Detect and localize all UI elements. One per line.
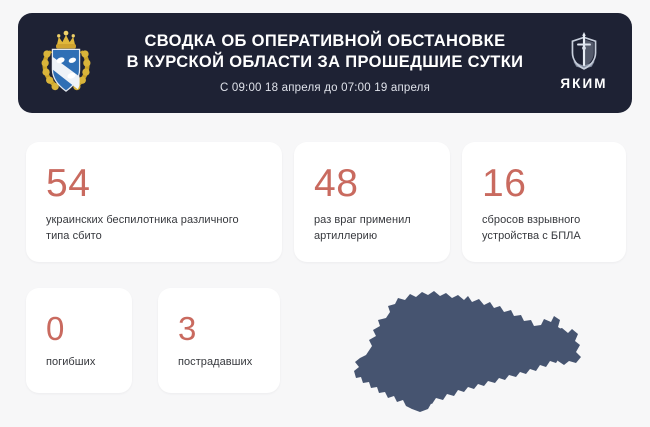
kursk-coat-of-arms-icon bbox=[18, 13, 114, 113]
stat-label: украинских беспилотника различного типа … bbox=[46, 213, 262, 244]
page-title-line-2: В КУРСКОЙ ОБЛАСТИ ЗА ПРОШЕДШИЕ СУТКИ bbox=[127, 52, 524, 73]
stat-card-artillery: 48 раз враг применил артиллерию bbox=[294, 142, 450, 262]
stat-value: 48 bbox=[314, 164, 430, 204]
yakim-logo: ЯКИМ bbox=[536, 13, 632, 113]
stat-label: сбросов взрывного устройства с БПЛА bbox=[482, 213, 606, 244]
stat-value: 54 bbox=[46, 164, 262, 204]
stat-label: погибших bbox=[46, 355, 112, 371]
stat-value: 0 bbox=[46, 312, 112, 346]
header-title-block: СВОДКА ОБ ОПЕРАТИВНОЙ ОБСТАНОВКЕ В КУРСК… bbox=[114, 31, 536, 96]
stat-card-killed: 0 погибших bbox=[26, 288, 132, 393]
shield-sword-icon bbox=[564, 32, 604, 72]
stat-card-injured: 3 пострадавших bbox=[158, 288, 280, 393]
kursk-oblast-map bbox=[348, 278, 640, 418]
header-banner: СВОДКА ОБ ОПЕРАТИВНОЙ ОБСТАНОВКЕ В КУРСК… bbox=[18, 13, 632, 113]
stat-card-drones: 54 украинских беспилотника различного ти… bbox=[26, 142, 282, 262]
stat-label: пострадавших bbox=[178, 355, 260, 371]
stat-value: 3 bbox=[178, 312, 260, 346]
stat-card-explosive-drops: 16 сбросов взрывного устройства с БПЛА bbox=[462, 142, 626, 262]
stat-label: раз враг применил артиллерию bbox=[314, 213, 430, 244]
page-title-line-1: СВОДКА ОБ ОПЕРАТИВНОЙ ОБСТАНОВКЕ bbox=[145, 31, 506, 52]
yakim-logo-text: ЯКИМ bbox=[560, 76, 607, 91]
report-period: С 09:00 18 апреля до 07:00 19 апреля bbox=[220, 82, 430, 94]
stat-value: 16 bbox=[482, 164, 606, 204]
